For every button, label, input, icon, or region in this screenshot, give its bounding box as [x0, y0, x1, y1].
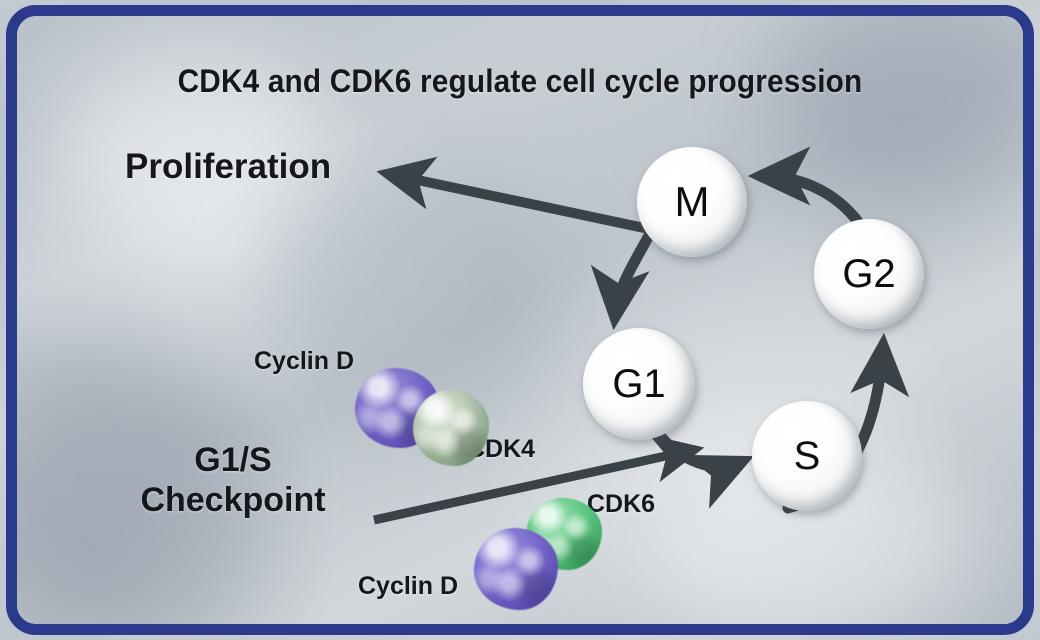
node-phase-m: M	[637, 147, 747, 257]
figure-background: CDK4 and CDK6 regulate cell cycle progre…	[17, 16, 1023, 624]
arrow-g2-to-m	[762, 176, 859, 223]
cdk4-protein-icon	[413, 390, 489, 466]
cyclin-d-protein-icon	[474, 528, 558, 610]
checkpoint-line-1: G1/S	[113, 440, 353, 480]
arrow-m-to-proliferation	[389, 174, 649, 229]
label-proliferation: Proliferation	[125, 147, 331, 187]
checkpoint-line-2: Checkpoint	[113, 480, 353, 520]
label-cyclin-d-bottom: Cyclin D	[358, 572, 458, 601]
arrow-g1-to-s	[661, 437, 741, 466]
label-cyclin-d-top: Cyclin D	[254, 347, 354, 376]
node-phase-g1: G1	[583, 328, 695, 440]
arrow-m-to-g1	[615, 232, 651, 316]
label-g1s-checkpoint: G1/S Checkpoint	[113, 440, 353, 520]
node-phase-g2: G2	[814, 219, 924, 329]
node-phase-s: S	[752, 401, 862, 511]
page-title: CDK4 and CDK6 regulate cell cycle progre…	[52, 63, 988, 100]
figure-canvas: CDK4 and CDK6 regulate cell cycle progre…	[0, 0, 1040, 640]
background-smudge	[777, 16, 1023, 206]
